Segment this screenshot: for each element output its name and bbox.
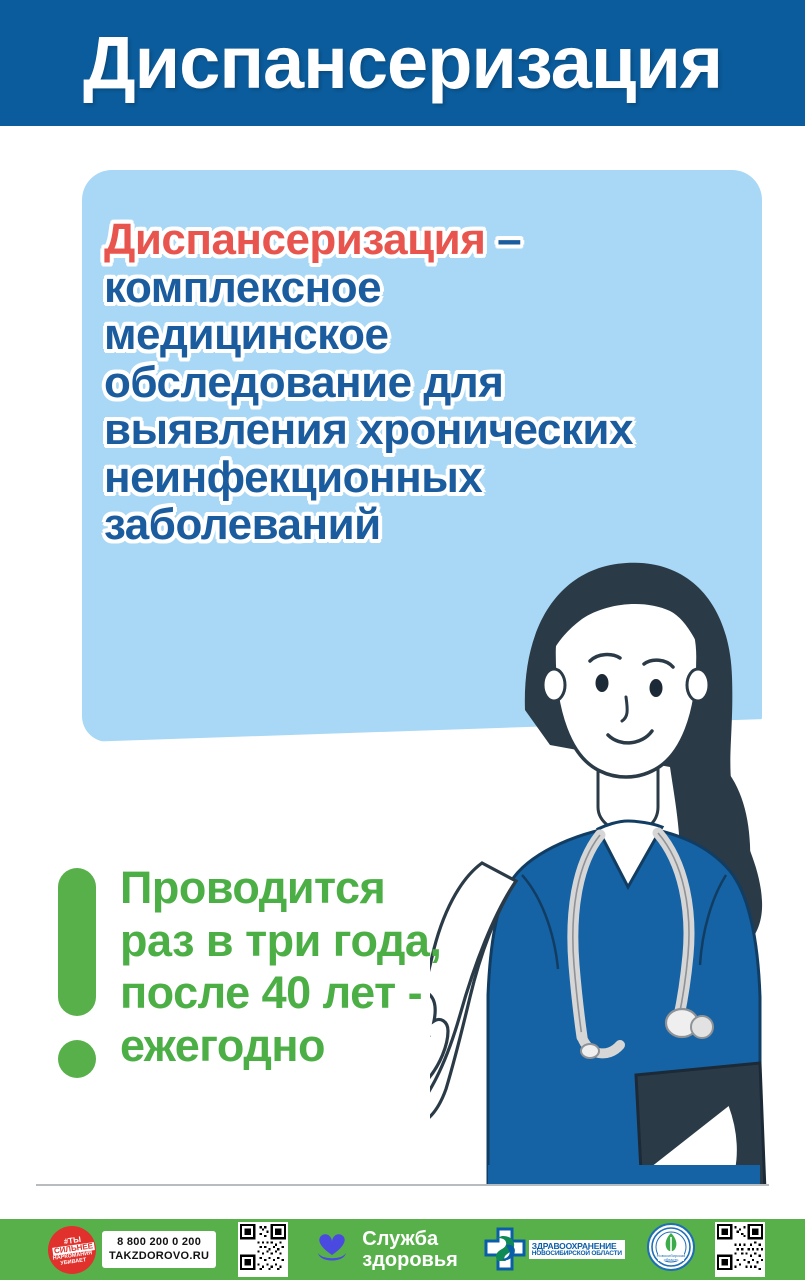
statement-line-0: Диспансеризация – [104, 216, 754, 264]
eye-right [650, 679, 663, 697]
hotline-phone: 8 800 200 0 200 [109, 1236, 209, 1250]
frequency-line-3: ежегодно [120, 1020, 530, 1073]
statement-dash: – [485, 215, 521, 264]
service-line-2: здоровья [362, 1250, 458, 1271]
footer-divider [36, 1184, 769, 1186]
medical-cross-icon [484, 1227, 526, 1273]
svg-text:область: область [663, 1257, 678, 1262]
service-name: Служба здоровья [362, 1229, 458, 1271]
ear-left [543, 669, 565, 701]
hotline-website: TAKZDOROVO.RU [109, 1250, 209, 1264]
frequency-note-text: Проводится раз в три года, после 40 лет … [120, 862, 530, 1073]
frequency-line-0: Проводится [120, 862, 530, 915]
footer-logo-row: #ТЫ СИЛЬНЕЕ НАРКОМАНИЯ УБИВАЕТ 8 800 200… [0, 1219, 805, 1280]
statement-line-6: заболеваний [104, 501, 754, 549]
exclamation-dot [58, 1040, 96, 1078]
qr-code-right-icon[interactable] [715, 1222, 765, 1277]
statement-accent-word: Диспансеризация [104, 215, 485, 264]
stethoscope-earpiece [581, 1044, 599, 1058]
statement-line-2: медицинское [104, 311, 754, 359]
page-title: Диспансеризация [83, 26, 722, 100]
statement-line-5: неинфекционных [104, 454, 754, 502]
scrubs-pants [488, 1165, 760, 1185]
statement-line-4: выявления хронических [104, 406, 754, 454]
takzdorovo-badge-icon: #ТЫ СИЛЬНЕЕ НАРКОМАНИЯ УБИВАЕТ [48, 1226, 96, 1274]
ear-right [687, 669, 709, 701]
service-line-1: Служба [362, 1229, 458, 1250]
exclamation-icon [58, 868, 96, 1078]
statement-line-1: комплексное [104, 264, 754, 312]
qr-code-left-icon[interactable] [238, 1222, 288, 1277]
frequency-line-1: раз в три года, [120, 915, 530, 968]
eye-left [596, 674, 609, 692]
footer-bar: #ТЫ СИЛЬНЕЕ НАРКОМАНИЯ УБИВАЕТ 8 800 200… [0, 1219, 805, 1280]
hotline-plate: 8 800 200 0 200 TAKZDOROVO.RU [102, 1231, 216, 1269]
region-seal-icon: Новосибирская область [647, 1223, 695, 1276]
statement-text: Диспансеризация – комплексное медицинско… [104, 216, 754, 549]
minzdrav-line-2: НОВОСИБИРСКОЙ ОБЛАСТИ [532, 1250, 622, 1257]
exclamation-bar [58, 868, 96, 1016]
minzdrav-wordmark: ЗДРАВООХРАНЕНИЕ НОВОСИБИРСКОЙ ОБЛАСТИ [529, 1240, 625, 1260]
header-banner: Диспансеризация [0, 0, 805, 126]
minzdrav-line-1: ЗДРАВООХРАНЕНИЕ [532, 1242, 622, 1251]
heart-icon [312, 1227, 352, 1272]
frequency-line-2: после 40 лет - [120, 967, 530, 1020]
poster-root: Диспансеризация Диспансеризация – компле… [0, 0, 805, 1280]
minzdrav-logo: ЗДРАВООХРАНЕНИЕ НОВОСИБИРСКОЙ ОБЛАСТИ [484, 1227, 625, 1273]
statement-line-3: обследование для [104, 359, 754, 407]
stethoscope-bell [691, 1016, 713, 1038]
